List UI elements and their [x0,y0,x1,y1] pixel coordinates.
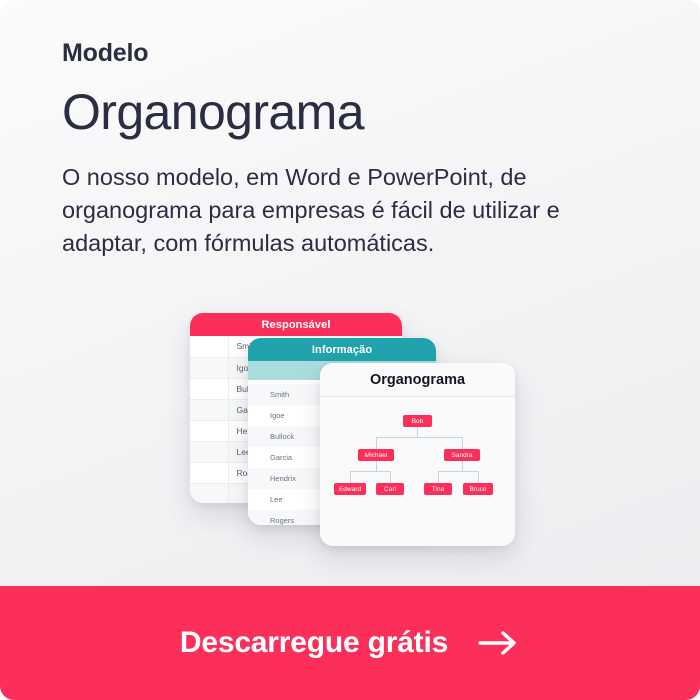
org-node: Bruce [463,483,493,495]
org-node: Edward [334,483,366,495]
org-connector [478,471,479,483]
org-connector [438,471,478,472]
promo-card: Modelo Organograma O nosso modelo, em Wo… [0,0,700,700]
description-text: O nosso modelo, em Word e PowerPoint, de… [62,161,647,261]
org-connector [390,471,391,483]
org-connector [438,471,439,483]
card-header-informacao: Informação [248,338,436,361]
org-connector [417,427,418,437]
card-header-organograma: Organograma [320,363,515,397]
org-node: Bob [403,415,432,427]
arrow-right-icon [478,630,520,656]
org-connector [462,437,463,449]
cta-label: Descarregue grátis [180,626,448,660]
org-node: Michael [358,449,394,461]
copy-block: Modelo Organograma O nosso modelo, em Wo… [62,38,662,261]
eyebrow-label: Modelo [62,38,662,68]
download-cta-button[interactable]: Descarregue grátis [0,586,700,700]
org-node: Sandra [444,449,480,461]
org-node: Carl [376,483,404,495]
table-cell-blank [190,441,228,462]
table-cell-blank [190,483,228,503]
org-connector [376,437,377,449]
org-connector [376,461,377,471]
table-cell-blank [190,336,228,357]
org-chart: BobMichaelSandraEdwardCarlTinaBruce [320,397,515,546]
table-cell-blank [190,357,228,378]
page-title: Organograma [62,86,662,139]
org-connector [462,461,463,471]
preview-card-organograma: Organograma BobMichaelSandraEdwardCarlTi… [320,363,515,546]
table-cell-blank [190,462,228,483]
org-connector [350,471,351,483]
org-node: Tina [424,483,452,495]
org-connector [376,437,462,438]
table-cell-blank [190,378,228,399]
table-cell-blank [190,420,228,441]
organograma-title: Organograma [370,372,465,388]
card-header-responsavel: Responsável [190,313,402,336]
table-cell-blank [190,399,228,420]
template-preview-illustration: Responsável SmithIgoeBullockGarciaHendri… [0,290,700,580]
org-connector [350,471,390,472]
